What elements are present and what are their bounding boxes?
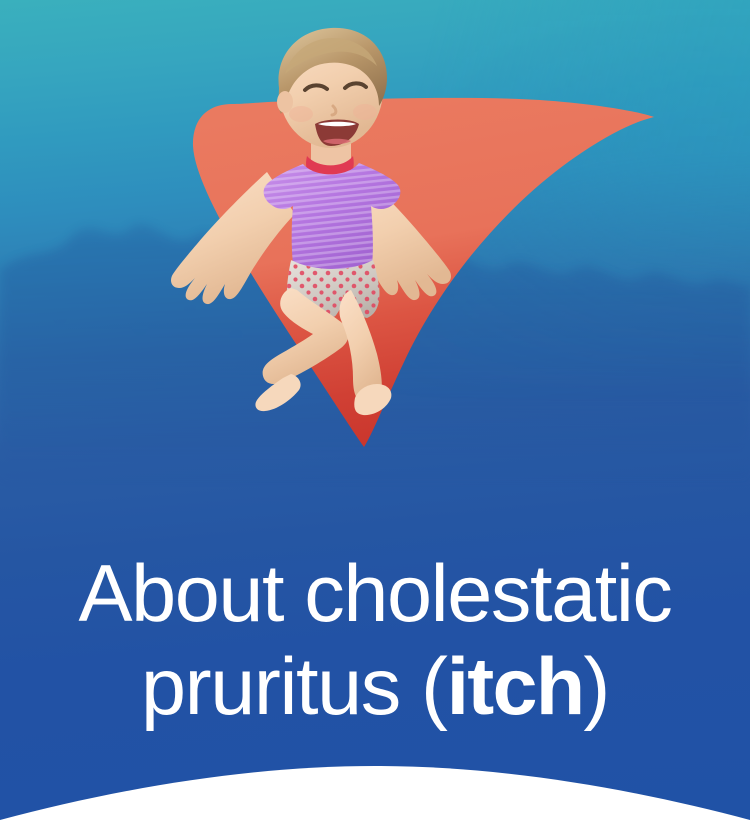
bottom-white-arc bbox=[0, 730, 750, 840]
page-title: About cholestatic pruritus (itch) bbox=[0, 548, 750, 734]
child-jumping-photo bbox=[155, 22, 485, 417]
hero-banner: About cholestatic pruritus (itch) bbox=[0, 0, 750, 840]
headline-line-2: pruritus (itch) bbox=[18, 641, 732, 734]
headline-emphasis-itch: itch bbox=[447, 642, 584, 732]
headline-line-1: About cholestatic bbox=[18, 548, 732, 641]
headline-prefix: pruritus ( bbox=[141, 642, 447, 732]
headline-suffix: ) bbox=[583, 642, 609, 732]
